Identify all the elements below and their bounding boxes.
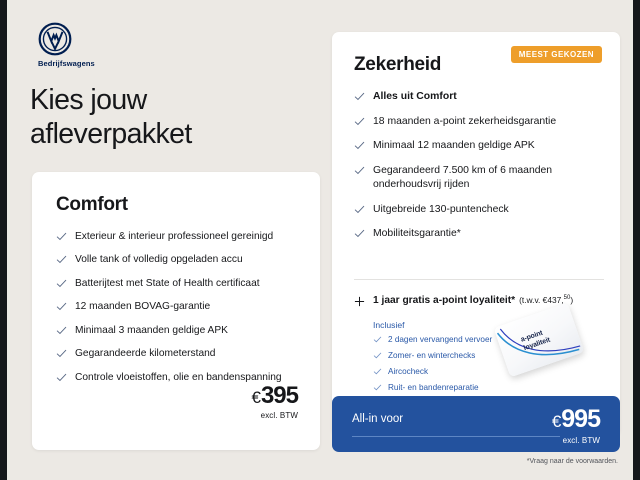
check-icon xyxy=(56,255,67,264)
brand-lockup: Bedrijfswagens xyxy=(38,22,158,68)
zekerheid-price: €995 xyxy=(552,407,600,432)
list-item-label: 12 maanden BOVAG-garantie xyxy=(75,301,210,312)
list-item-label: Exterieur & interieur professioneel gere… xyxy=(75,231,273,242)
page-title: Kies jouw afleverpakket xyxy=(30,84,330,151)
comfort-price-note: excl. BTW xyxy=(251,411,298,420)
allin-rule xyxy=(352,436,560,437)
list-item-label: Ruit- en bandenreparatie xyxy=(388,383,479,392)
check-icon xyxy=(354,166,365,175)
list-item-label: Mobiliteitsgarantie* xyxy=(373,228,461,239)
list-item-label: 18 maanden a-point zekerheidsgarantie xyxy=(373,116,556,127)
check-icon xyxy=(373,336,382,343)
package-card-comfort[interactable]: Comfort Exterieur & interieur profession… xyxy=(32,172,320,450)
check-icon xyxy=(354,141,365,150)
list-item: 12 maanden BOVAG-garantie xyxy=(56,300,300,313)
check-icon xyxy=(56,349,67,358)
list-item-label: Minimaal 12 maanden geldige APK xyxy=(373,140,535,151)
list-item: Gegarandeerd 7.500 km of 6 maanden onder… xyxy=(354,164,604,191)
zekerheid-title: Zekerheid xyxy=(354,54,441,76)
footnote: *Vraag naar de voorwaarden. xyxy=(527,458,618,465)
poster-canvas: Bedrijfswagens Kies jouw afleverpakket C… xyxy=(0,0,640,480)
list-item: Alles uit Comfort xyxy=(354,90,604,104)
check-icon xyxy=(354,205,365,214)
letterbox-left xyxy=(0,0,7,480)
list-item-label: Gegarandeerd 7.500 km of 6 maanden onder… xyxy=(373,165,552,190)
check-icon xyxy=(354,92,365,101)
list-item-label: Batterijtest met State of Health certifi… xyxy=(75,278,260,289)
currency-symbol: € xyxy=(251,388,259,407)
check-icon xyxy=(354,117,365,126)
comfort-price-block: €395 excl. BTW xyxy=(251,384,298,420)
comfort-title: Comfort xyxy=(56,194,128,216)
check-icon xyxy=(354,229,365,238)
list-item: Uitgebreide 130-puntencheck xyxy=(354,203,604,217)
list-item: 18 maanden a-point zekerheidsgarantie xyxy=(354,115,604,129)
list-item-label: Zomer- en winterchecks xyxy=(388,351,475,360)
brand-sub-label: Bedrijfswagens xyxy=(38,59,158,68)
bonus-label: 1 jaar gratis a-point loyaliteit* xyxy=(373,295,515,306)
list-item-label: Minimaal 3 maanden geldige APK xyxy=(75,325,228,336)
check-icon xyxy=(56,326,67,335)
check-icon xyxy=(56,302,67,311)
price-amount: 995 xyxy=(561,405,600,433)
bonus-value-suffix: ) xyxy=(570,295,573,305)
vw-roundel-icon xyxy=(38,22,72,56)
check-icon xyxy=(373,368,382,375)
list-item: Volle tank of volledig opgeladen accu xyxy=(56,253,300,266)
headline-line-1: Kies jouw xyxy=(30,84,330,118)
status-badge: MEEST GEKOZEN xyxy=(511,46,602,63)
list-item-label: Aircocheck xyxy=(388,367,428,376)
currency-symbol: € xyxy=(552,412,560,431)
comfort-price: €395 xyxy=(251,384,298,408)
list-item-label: Uitgebreide 130-puntencheck xyxy=(373,204,509,215)
list-item: Batterijtest met State of Health certifi… xyxy=(56,277,300,290)
check-icon xyxy=(56,373,67,382)
check-icon xyxy=(56,279,67,288)
zekerheid-feature-list: Alles uit Comfort 18 maanden a-point zek… xyxy=(354,90,604,252)
allin-label: All-in voor xyxy=(352,413,403,425)
list-item: Minimaal 3 maanden geldige APK xyxy=(56,324,300,337)
list-item: Mobiliteitsgarantie* xyxy=(354,227,604,241)
bonus-value-amount: 437, xyxy=(547,295,563,305)
list-item: Exterieur & interieur professioneel gere… xyxy=(56,230,300,243)
list-item-label: Controle vloeistoffen, olie en bandenspa… xyxy=(75,372,282,383)
list-item-label: Volle tank of volledig opgeladen accu xyxy=(75,254,243,265)
list-item-label: Gegarandeerde kilometerstand xyxy=(75,348,215,359)
check-icon xyxy=(373,352,382,359)
check-icon xyxy=(56,232,67,241)
list-item-label: 2 dagen vervangend vervoer xyxy=(388,335,492,344)
headline-line-2: afleverpakket xyxy=(30,118,330,152)
list-item: Ruit- en bandenreparatie xyxy=(373,383,548,393)
package-card-zekerheid[interactable]: MEEST GEKOZEN Zekerheid Alles uit Comfor… xyxy=(332,32,620,436)
list-item-label: Alles uit Comfort xyxy=(373,91,457,102)
allin-price-bar[interactable]: All-in voor €995 excl. BTW xyxy=(332,396,620,452)
list-item: Gegarandeerde kilometerstand xyxy=(56,347,300,360)
zekerheid-price-note: excl. BTW xyxy=(563,436,600,445)
letterbox-right xyxy=(633,0,640,480)
check-icon xyxy=(373,384,382,391)
bonus-label-wrap: 1 jaar gratis a-point loyaliteit*(t.w.v.… xyxy=(354,295,612,307)
comfort-feature-list: Exterieur & interieur professioneel gere… xyxy=(56,230,300,394)
bonus-row: 1 jaar gratis a-point loyaliteit*(t.w.v.… xyxy=(354,295,612,307)
price-amount: 395 xyxy=(261,382,298,409)
bonus-value-prefix: (t.w.v. € xyxy=(519,295,547,305)
list-item: Minimaal 12 maanden geldige APK xyxy=(354,139,604,153)
divider xyxy=(354,279,604,280)
plus-icon xyxy=(354,296,365,307)
